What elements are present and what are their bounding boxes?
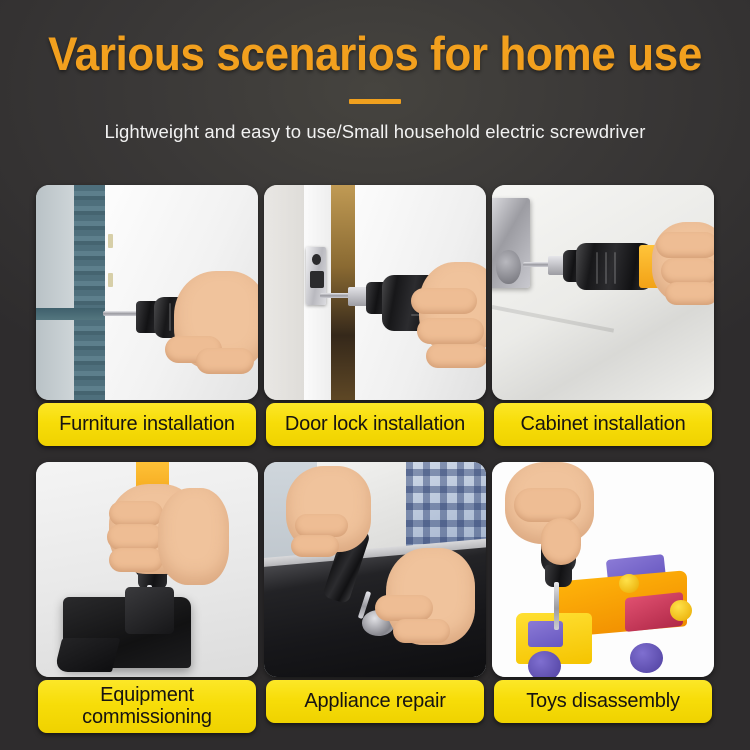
page-subtitle: Lightweight and easy to use/Small househ… <box>0 121 750 143</box>
scenario-grid: Furniture installation <box>36 185 714 735</box>
page-title: Various scenarios for home use <box>23 30 728 77</box>
scenario-label-door-lock-installation: Door lock installation <box>266 403 484 446</box>
scenario-label-appliance-repair: Appliance repair <box>266 680 484 723</box>
scenario-photo-door-lock-installation <box>264 185 486 400</box>
scenario-label-toys-disassembly: Toys disassembly <box>494 680 712 723</box>
header: Various scenarios for home use Lightweig… <box>0 0 750 143</box>
scenario-card-furniture-installation[interactable]: Furniture installation <box>36 185 258 458</box>
scenario-card-toys-disassembly[interactable]: Toys disassembly <box>492 462 714 735</box>
title-divider <box>349 99 401 104</box>
scenario-photo-appliance-repair <box>264 462 486 677</box>
scenario-card-cabinet-installation[interactable]: Cabinet installation <box>492 185 714 458</box>
scenario-photo-equipment-commissioning <box>36 462 258 677</box>
scenario-photo-furniture-installation <box>36 185 258 400</box>
scenario-card-door-lock-installation[interactable]: Door lock installation <box>264 185 486 458</box>
scenario-card-equipment-commissioning[interactable]: Equipment commissioning <box>36 462 258 735</box>
scenario-photo-toys-disassembly <box>492 462 714 677</box>
scenario-card-appliance-repair[interactable]: Appliance repair <box>264 462 486 735</box>
scenario-photo-cabinet-installation <box>492 185 714 400</box>
scenario-label-equipment-commissioning: Equipment commissioning <box>38 680 256 733</box>
scenario-label-cabinet-installation: Cabinet installation <box>494 403 712 446</box>
promo-page: Various scenarios for home use Lightweig… <box>0 0 750 750</box>
scenario-label-furniture-installation: Furniture installation <box>38 403 256 446</box>
